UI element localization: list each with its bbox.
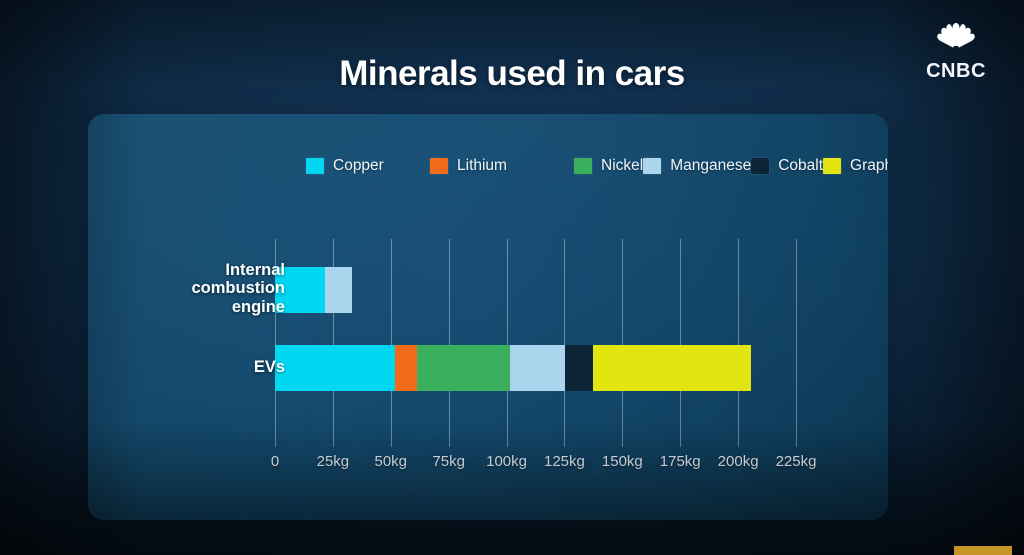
plot-area: Internal combustion engineEVs bbox=[275, 239, 796, 447]
bar-segment-manganese[interactable] bbox=[510, 345, 566, 391]
chart-stage: CNBC Minerals used in cars CopperLithium… bbox=[0, 0, 1024, 555]
cnbc-wordmark: CNBC bbox=[926, 61, 986, 81]
legend-swatch-icon bbox=[823, 158, 841, 174]
legend-item: Lithium bbox=[430, 154, 574, 178]
x-tick-label: 150kg bbox=[602, 454, 643, 469]
legend-label: Manganese bbox=[670, 158, 751, 174]
cnbc-peacock-icon bbox=[924, 20, 988, 60]
gridline bbox=[622, 239, 623, 447]
gridline bbox=[738, 239, 739, 447]
gridline bbox=[796, 239, 797, 447]
x-tick-label: 0 bbox=[271, 454, 279, 469]
amber-edge-sliver bbox=[954, 546, 1012, 555]
x-tick-label: 50kg bbox=[375, 454, 408, 469]
category-label: Internal combustion engine bbox=[192, 261, 286, 316]
legend-swatch-icon bbox=[643, 158, 661, 174]
x-axis: 025kg50kg75kg100kg125kg150kg175kg200kg22… bbox=[275, 454, 796, 480]
category-label: EVs bbox=[254, 358, 285, 376]
x-tick-label: 75kg bbox=[432, 454, 465, 469]
bar-segment-lithium[interactable] bbox=[395, 345, 417, 391]
stacked-bar[interactable] bbox=[275, 345, 751, 391]
x-tick-label: 200kg bbox=[718, 454, 759, 469]
gridline bbox=[564, 239, 565, 447]
gridline bbox=[507, 239, 508, 447]
bar-segment-cobalt[interactable] bbox=[565, 345, 593, 391]
legend-label: Cobalt bbox=[778, 158, 823, 174]
legend-item: Copper bbox=[306, 154, 430, 178]
stacked-bar[interactable] bbox=[275, 267, 352, 313]
gridline bbox=[449, 239, 450, 447]
x-tick-label: 175kg bbox=[660, 454, 701, 469]
chart-panel: CopperLithiumNickelManganeseCobaltGraphi… bbox=[88, 114, 888, 520]
x-tick-label: 100kg bbox=[486, 454, 527, 469]
legend-swatch-icon bbox=[751, 158, 769, 174]
x-tick-label: 225kg bbox=[776, 454, 817, 469]
legend-item: Cobalt bbox=[751, 154, 823, 178]
legend-item: Graphite bbox=[823, 154, 888, 178]
legend-item: Manganese bbox=[643, 154, 751, 178]
gridline bbox=[391, 239, 392, 447]
legend-label: Copper bbox=[333, 158, 384, 174]
legend-label: Nickel bbox=[601, 158, 643, 174]
legend-swatch-icon bbox=[574, 158, 592, 174]
cnbc-logo: CNBC bbox=[910, 20, 1002, 86]
bar-segment-copper[interactable] bbox=[275, 345, 395, 391]
legend-item: Nickel bbox=[574, 154, 643, 178]
bar-segment-graphite[interactable] bbox=[593, 345, 751, 391]
page-title: Minerals used in cars bbox=[0, 54, 1024, 94]
gridline bbox=[680, 239, 681, 447]
bar-segment-nickel[interactable] bbox=[417, 345, 510, 391]
chart-legend: CopperLithiumNickelManganeseCobaltGraphi… bbox=[306, 154, 888, 178]
legend-label: Lithium bbox=[457, 158, 507, 174]
x-tick-label: 125kg bbox=[544, 454, 585, 469]
x-tick-label: 25kg bbox=[317, 454, 350, 469]
legend-label: Graphite bbox=[850, 158, 888, 174]
legend-swatch-icon bbox=[306, 158, 324, 174]
legend-swatch-icon bbox=[430, 158, 448, 174]
bar-segment-manganese[interactable] bbox=[325, 267, 352, 313]
